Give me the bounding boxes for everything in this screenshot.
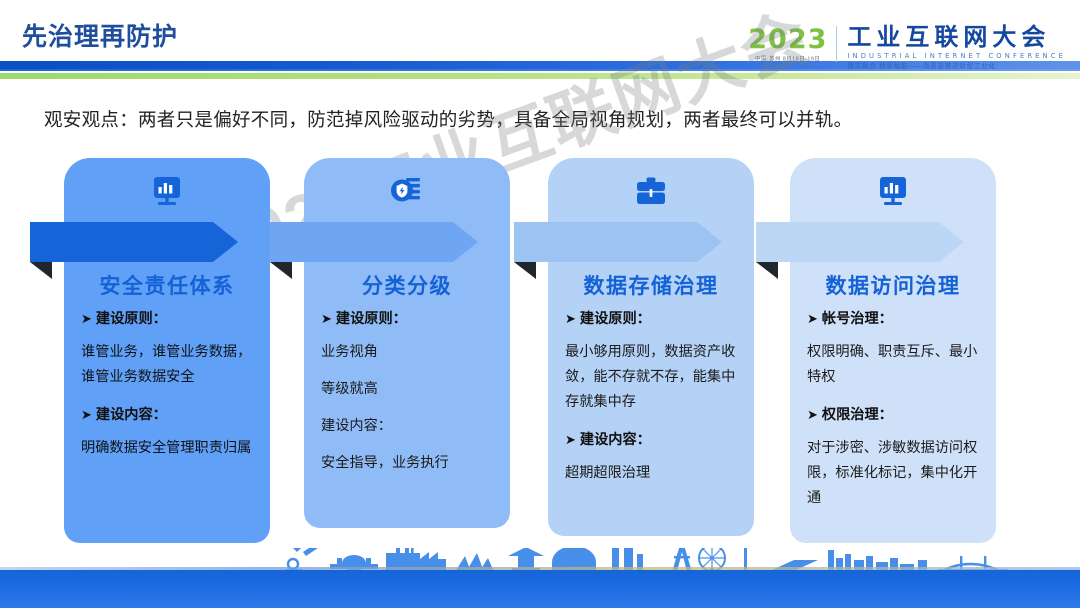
card-bullet-label: 建设内容： xyxy=(580,432,651,448)
logo-name-cn: 工业互联网大会 xyxy=(847,25,1066,50)
ribbon-body xyxy=(270,222,478,262)
logo-name-en: INDUSTRIAL INTERNET CONFERENCE xyxy=(847,52,1066,61)
arrow-bullet-icon: ➤ xyxy=(81,311,92,326)
logo-name-block: 工业互联网大会 INDUSTRIAL INTERNET CONFERENCE 数… xyxy=(837,25,1066,71)
card-paragraph: 对于涉密、涉敏数据访问权限，标准化标记，集中化开通 xyxy=(807,436,983,511)
footer-blue-band xyxy=(0,570,1080,608)
card-bullet-label: 权限治理： xyxy=(822,407,893,423)
logo-year-block: 2023 中国·苏州 8月18日-19日 xyxy=(748,26,837,62)
card-body: ➤帐号治理： 权限明确、职责互斥、最小特权 ➤权限治理： 对于涉密、涉敏数据访问… xyxy=(807,306,983,511)
card-title: 安全责任体系 xyxy=(64,270,270,300)
card-title: 数据访问治理 xyxy=(790,270,996,300)
page-header: 先治理再防护 2023 中国·苏州 8月18日-19日 工业互联网大会 INDU… xyxy=(0,0,1080,82)
ribbon-fold xyxy=(756,262,778,279)
card-bullet: ➤建设原则： xyxy=(565,306,741,332)
ribbon-body xyxy=(756,222,964,262)
card-data-access-governance[interactable]: 数据访问治理 ➤帐号治理： 权限明确、职责互斥、最小特权 ➤权限治理： 对于涉密… xyxy=(790,158,996,543)
conference-logo: 2023 中国·苏州 8月18日-19日 工业互联网大会 INDUSTRIAL … xyxy=(748,24,1066,66)
logo-slogan: 数实融合 数智赋能——高质量推进新型工业化 xyxy=(847,62,1066,71)
card-bullet-label: 建设原则： xyxy=(96,311,167,327)
arrow-bullet-icon: ➤ xyxy=(807,407,818,422)
arrow-bullet-icon: ➤ xyxy=(565,432,576,447)
card-security-responsibility[interactable]: 安全责任体系 ➤建设原则： 谁管业务，谁管业务数据，谁管业务数据安全 ➤建设内容… xyxy=(64,158,270,543)
card-paragraph: 建设内容： xyxy=(321,414,497,439)
footer-decoration xyxy=(0,548,1080,608)
card-data-storage-governance[interactable]: 数据存储治理 ➤建设原则： 最小够用原则，数据资产收敛，能不存就不存，能集中存就… xyxy=(548,158,754,536)
card-bullet: ➤权限治理： xyxy=(807,402,983,428)
ribbon-body xyxy=(30,222,238,262)
divider-green-band xyxy=(0,73,1080,79)
arrow-bullet-icon: ➤ xyxy=(81,407,92,422)
card-paragraph: 明确数据安全管理职责归属 xyxy=(81,436,257,461)
card-body: ➤建设原则： 业务视角 等级就高 建设内容： 安全指导，业务执行 xyxy=(321,306,497,476)
card-paragraph: 权限明确、职责互斥、最小特权 xyxy=(807,340,983,390)
card-bullet-label: 建设原则： xyxy=(336,311,407,327)
briefcase-icon xyxy=(548,166,754,220)
lead-statement: 观安观点：两者只是偏好不同，防范掉风险驱动的劣势，具备全局视角规划，两者最终可以… xyxy=(44,106,1044,132)
card-paragraph: 超期超限治理 xyxy=(565,461,741,486)
card-body: ➤建设原则： 最小够用原则，数据资产收敛，能不存就不存，能集中存就集中存 ➤建设… xyxy=(565,306,741,486)
monitor-bar-chart-icon xyxy=(790,166,996,220)
ribbon-fold xyxy=(270,262,292,279)
arrow-bullet-icon: ➤ xyxy=(565,311,576,326)
card-bullet: ➤建设内容： xyxy=(565,427,741,453)
arrow-bullet-icon: ➤ xyxy=(321,311,332,326)
card-paragraph: 安全指导，业务执行 xyxy=(321,451,497,476)
card-classification-grading[interactable]: 分类分级 ➤建设原则： 业务视角 等级就高 建设内容： 安全指导，业务执行 xyxy=(304,158,510,528)
page-title: 先治理再防护 xyxy=(22,17,178,53)
card-paragraph: 等级就高 xyxy=(321,377,497,402)
card-title: 数据存储治理 xyxy=(548,270,754,300)
card-ribbon-arrow xyxy=(756,222,964,262)
arrow-bullet-icon: ➤ xyxy=(807,311,818,326)
card-ribbon-arrow xyxy=(514,222,722,262)
card-bullet-label: 建设原则： xyxy=(580,311,651,327)
card-bullet-label: 帐号治理： xyxy=(822,311,893,327)
card-bullet-label: 建设内容： xyxy=(96,407,167,423)
card-bullet: ➤帐号治理： xyxy=(807,306,983,332)
card-paragraph: 谁管业务，谁管业务数据，谁管业务数据安全 xyxy=(81,340,257,390)
card-ribbon-arrow xyxy=(270,222,478,262)
monitor-bar-chart-icon xyxy=(64,166,270,220)
ribbon-fold xyxy=(30,262,52,279)
card-bullet: ➤建设内容： xyxy=(81,402,257,428)
ribbon-body xyxy=(514,222,722,262)
card-row: 安全责任体系 ➤建设原则： 谁管业务，谁管业务数据，谁管业务数据安全 ➤建设内容… xyxy=(0,158,1080,548)
database-shield-icon xyxy=(304,166,510,220)
logo-year-text: 2023 xyxy=(748,26,827,53)
card-title: 分类分级 xyxy=(304,270,510,300)
card-bullet: ➤建设原则： xyxy=(321,306,497,332)
ribbon-fold xyxy=(514,262,536,279)
card-paragraph: 最小够用原则，数据资产收敛，能不存就不存，能集中存就集中存 xyxy=(565,340,741,415)
card-ribbon-arrow xyxy=(30,222,238,262)
card-bullet: ➤建设原则： xyxy=(81,306,257,332)
card-body: ➤建设原则： 谁管业务，谁管业务数据，谁管业务数据安全 ➤建设内容： 明确数据安… xyxy=(81,306,257,461)
card-paragraph: 业务视角 xyxy=(321,340,497,365)
logo-place-text: 中国·苏州 8月18日-19日 xyxy=(755,56,820,63)
